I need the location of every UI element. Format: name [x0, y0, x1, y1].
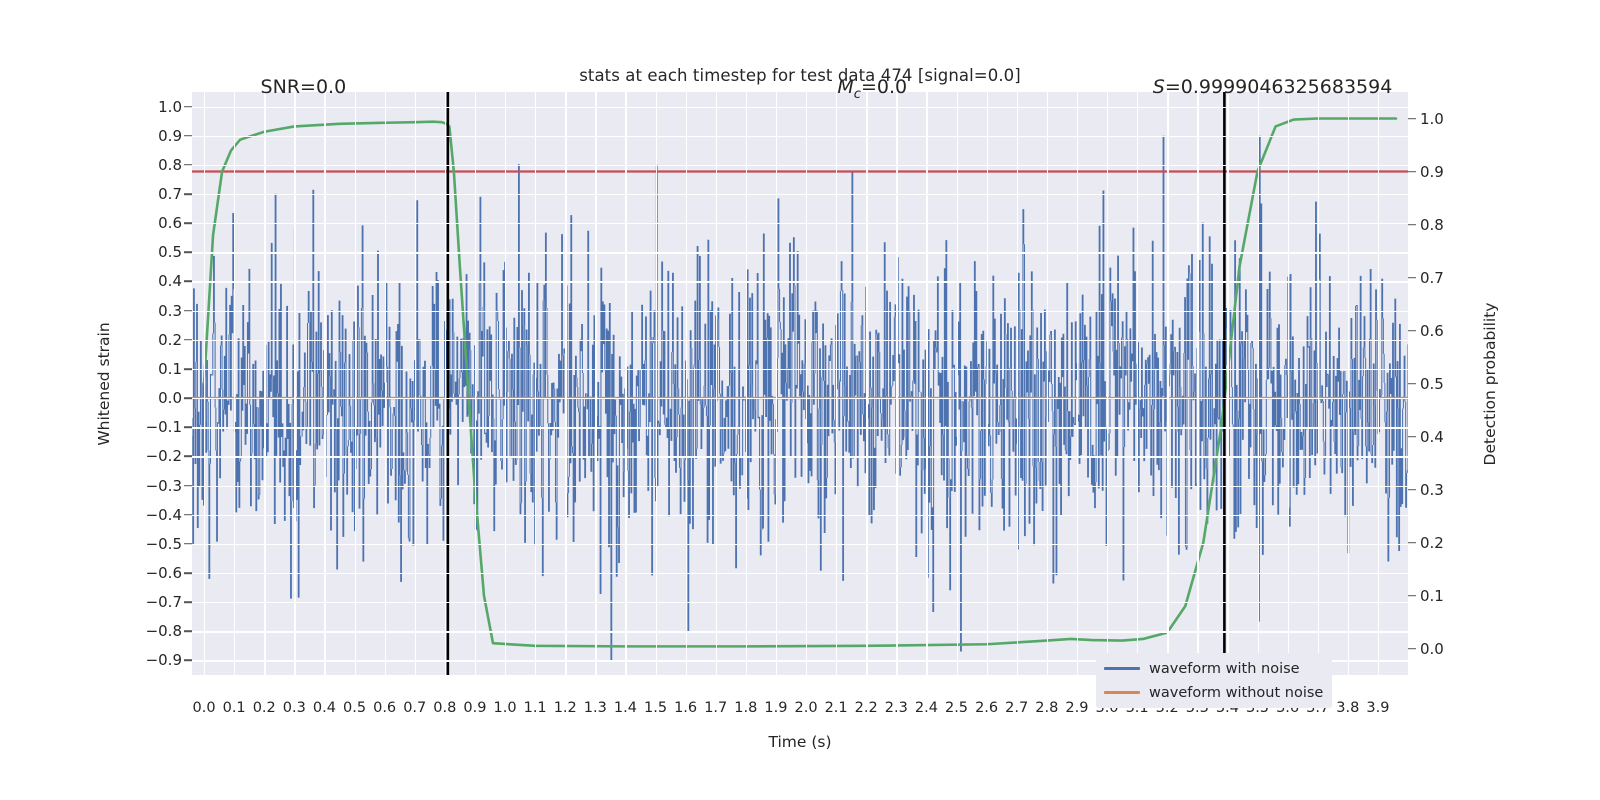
x-axis-tick-label: 1.6	[674, 700, 697, 716]
y-axis-left-tick-label: −0.4	[146, 506, 182, 524]
y-axis-left-tick-label: 0.5	[158, 243, 182, 261]
y-axis-left-tick-label: 0.9	[158, 127, 182, 145]
grid-line-horizontal	[192, 223, 1408, 224]
grid-line-vertical	[896, 92, 897, 675]
y-axis-right-tick-mark	[1408, 383, 1416, 385]
legend-item-label: waveform with noise	[1149, 661, 1300, 677]
annotation-chirp-mass-value: =0.0	[861, 76, 907, 98]
x-axis-tick-label: 1.9	[764, 700, 787, 716]
x-axis-tick-label: 2.7	[1005, 700, 1028, 716]
y-axis-right-tick-mark	[1408, 118, 1416, 120]
y-axis-left-label: Whitened strain	[95, 322, 113, 445]
grid-line-vertical	[1258, 92, 1259, 675]
y-axis-right-tick-mark	[1408, 436, 1416, 438]
y-axis-left-tick-label: 0.7	[158, 185, 182, 203]
x-axis-tick-label: 0.3	[283, 700, 306, 716]
x-axis-tick-label: 2.3	[885, 700, 908, 716]
legend[interactable]: waveform with noisewaveform without nois…	[1096, 653, 1332, 708]
grid-line-horizontal	[192, 544, 1408, 545]
x-axis-tick-label: 2.6	[975, 700, 998, 716]
grid-line-vertical	[415, 92, 416, 675]
grid-line-vertical	[866, 92, 867, 675]
y-axis-left-tick-label: −0.3	[146, 477, 182, 495]
grid-line-vertical	[385, 92, 386, 675]
y-axis-right-tick-mark	[1408, 330, 1416, 332]
x-axis-tick-label: 1.2	[554, 700, 577, 716]
x-axis-tick-label: 2.8	[1035, 700, 1058, 716]
y-axis-left-tick-label: 0.2	[158, 331, 182, 349]
y-axis-left-tick-mark	[184, 135, 192, 137]
y-axis-left-tick-mark	[184, 660, 192, 662]
x-axis-tick-label: 2.4	[915, 700, 938, 716]
grid-line-horizontal	[192, 252, 1408, 253]
grid-line-vertical	[565, 92, 566, 675]
grid-line-vertical	[324, 92, 325, 675]
y-axis-left-tick-label: −0.5	[146, 535, 182, 553]
y-axis-left-tick-mark	[184, 485, 192, 487]
data-series-layer	[192, 92, 1408, 675]
y-axis-right-tick-label: 0.1	[1420, 587, 1444, 605]
grid-line-vertical	[806, 92, 807, 675]
grid-line-vertical	[776, 92, 777, 675]
grid-line-vertical	[234, 92, 235, 675]
y-axis-right-tick-mark	[1408, 224, 1416, 226]
grid-line-vertical	[505, 92, 506, 675]
y-axis-left-tick-mark	[184, 310, 192, 312]
grid-line-horizontal	[192, 427, 1408, 428]
y-axis-left-tick-label: −0.9	[146, 651, 182, 669]
y-axis-left-tick-mark	[184, 543, 192, 545]
y-axis-left-tick-mark	[184, 601, 192, 603]
y-axis-right-tick-mark	[1408, 171, 1416, 173]
grid-line-vertical	[445, 92, 446, 675]
grid-line-horizontal	[192, 456, 1408, 457]
grid-line-horizontal	[192, 311, 1408, 312]
annotation-chirp-mass: Mc=0.0	[837, 76, 907, 102]
y-axis-left-tick-label: −0.8	[146, 622, 182, 640]
annotation-score-symbol: S	[1153, 76, 1165, 98]
grid-line-horizontal	[192, 281, 1408, 282]
grid-line-vertical	[535, 92, 536, 675]
x-axis-tick-label: 1.8	[734, 700, 757, 716]
y-axis-left-tick-mark	[184, 193, 192, 195]
y-axis-left-tick-mark	[184, 397, 192, 399]
y-axis-left-tick-mark	[184, 456, 192, 458]
grid-line-vertical	[1137, 92, 1138, 675]
y-axis-right-tick-mark	[1408, 277, 1416, 279]
legend-item-label: waveform without noise	[1149, 685, 1323, 701]
y-axis-left-tick-mark	[184, 339, 192, 341]
y-axis-right-tick-label: 1.0	[1420, 110, 1444, 128]
x-axis-tick-label: 1.7	[704, 700, 727, 716]
grid-line-vertical	[716, 92, 717, 675]
grid-line-vertical	[1167, 92, 1168, 675]
annotation-snr: SNR=0.0	[261, 76, 347, 98]
x-axis-tick-label: 0.2	[253, 700, 276, 716]
grid-line-vertical	[656, 92, 657, 675]
x-axis-tick-label: 1.5	[644, 700, 667, 716]
grid-line-vertical	[1227, 92, 1228, 675]
y-axis-left-tick-label: 0.8	[158, 156, 182, 174]
y-axis-left-tick-mark	[184, 572, 192, 574]
legend-item[interactable]: waveform with noise	[1104, 658, 1323, 679]
grid-line-vertical	[957, 92, 958, 675]
y-axis-right-tick-mark	[1408, 595, 1416, 597]
x-axis-label: Time (s)	[768, 733, 831, 751]
grid-line-vertical	[294, 92, 295, 675]
annotation-score: S=0.9999046325683594	[1153, 76, 1393, 98]
x-axis-tick-label: 0.5	[343, 700, 366, 716]
y-axis-left-tick-label: −0.6	[146, 564, 182, 582]
x-axis-tick-label: 0.0	[193, 700, 216, 716]
x-axis-tick-label: 2.9	[1065, 700, 1088, 716]
y-axis-left-tick-label: −0.7	[146, 593, 182, 611]
grid-line-horizontal	[192, 165, 1408, 166]
y-axis-left-tick-mark	[184, 106, 192, 108]
grid-line-vertical	[686, 92, 687, 675]
figure-canvas: stats at each timestep for test data 474…	[0, 0, 1600, 800]
x-axis-tick-label: 1.0	[493, 700, 516, 716]
grid-line-horizontal	[192, 398, 1408, 399]
grid-line-vertical	[204, 92, 205, 675]
legend-item[interactable]: waveform without noise	[1104, 682, 1323, 703]
y-axis-right-tick-label: 0.3	[1420, 481, 1444, 499]
grid-line-vertical	[625, 92, 626, 675]
y-axis-right-tick-label: 0.5	[1420, 375, 1444, 393]
x-axis-tick-label: 3.8	[1336, 700, 1359, 716]
y-axis-left-tick-label: −0.2	[146, 447, 182, 465]
y-axis-left-tick-mark	[184, 368, 192, 370]
grid-line-vertical	[1107, 92, 1108, 675]
grid-line-horizontal	[192, 340, 1408, 341]
x-axis-tick-label: 2.2	[855, 700, 878, 716]
grid-line-horizontal	[192, 369, 1408, 370]
grid-line-vertical	[926, 92, 927, 675]
plot-axes-area	[192, 92, 1408, 675]
x-axis-tick-label: 1.4	[614, 700, 637, 716]
y-axis-left-tick-label: 0.3	[158, 302, 182, 320]
y-axis-left-tick-mark	[184, 630, 192, 632]
grid-line-horizontal	[192, 631, 1408, 632]
y-axis-left-tick-label: 0.1	[158, 360, 182, 378]
annotation-chirp-mass-subscript: c	[854, 87, 861, 102]
grid-line-vertical	[1348, 92, 1349, 675]
x-axis-tick-label: 2.0	[794, 700, 817, 716]
y-axis-left-tick-label: 1.0	[158, 98, 182, 116]
annotation-score-value: =0.9999046325683594	[1165, 76, 1392, 98]
x-axis-tick-label: 0.9	[463, 700, 486, 716]
grid-line-vertical	[1197, 92, 1198, 675]
grid-line-vertical	[1288, 92, 1289, 675]
x-axis-tick-label: 2.1	[825, 700, 848, 716]
y-axis-right-tick-label: 0.8	[1420, 216, 1444, 234]
y-axis-right-tick-label: 0.9	[1420, 163, 1444, 181]
y-axis-left-tick-label: 0.0	[158, 389, 182, 407]
y-axis-right-tick-mark	[1408, 489, 1416, 491]
grid-line-vertical	[475, 92, 476, 675]
grid-line-vertical	[987, 92, 988, 675]
y-axis-left-tick-mark	[184, 281, 192, 283]
grid-line-vertical	[1047, 92, 1048, 675]
y-axis-right-tick-label: 0.0	[1420, 640, 1444, 658]
grid-line-horizontal	[192, 602, 1408, 603]
x-axis-tick-label: 0.1	[223, 700, 246, 716]
y-axis-left-tick-mark	[184, 514, 192, 516]
grid-line-vertical	[836, 92, 837, 675]
y-axis-right-tick-label: 0.4	[1420, 428, 1444, 446]
y-axis-left-tick-label: −0.1	[146, 418, 182, 436]
grid-line-horizontal	[192, 107, 1408, 108]
y-axis-right-tick-mark	[1408, 542, 1416, 544]
grid-line-horizontal	[192, 515, 1408, 516]
y-axis-left-tick-mark	[184, 164, 192, 166]
grid-line-horizontal	[192, 573, 1408, 574]
y-axis-right-tick-mark	[1408, 648, 1416, 650]
x-axis-tick-label: 0.4	[313, 700, 336, 716]
y-axis-right-tick-label: 0.7	[1420, 269, 1444, 287]
x-axis-tick-label: 0.7	[403, 700, 426, 716]
x-axis-tick-label: 1.1	[524, 700, 547, 716]
grid-line-horizontal	[192, 486, 1408, 487]
grid-line-vertical	[1318, 92, 1319, 675]
y-axis-left-tick-label: 0.6	[158, 214, 182, 232]
x-axis-tick-label: 3.9	[1366, 700, 1389, 716]
y-axis-right-tick-label: 0.2	[1420, 534, 1444, 552]
y-axis-left-tick-label: 0.4	[158, 272, 182, 290]
grid-line-vertical	[595, 92, 596, 675]
legend-color-swatch	[1104, 691, 1140, 694]
legend-color-swatch	[1104, 667, 1140, 670]
grid-line-vertical	[264, 92, 265, 675]
grid-line-vertical	[1017, 92, 1018, 675]
x-axis-tick-label: 1.3	[584, 700, 607, 716]
grid-line-horizontal	[192, 194, 1408, 195]
y-axis-left-tick-mark	[184, 252, 192, 254]
x-axis-tick-label: 2.5	[945, 700, 968, 716]
y-axis-right-label: Detection probability	[1481, 303, 1499, 466]
grid-line-vertical	[746, 92, 747, 675]
y-axis-right-tick-label: 0.6	[1420, 322, 1444, 340]
grid-line-vertical	[355, 92, 356, 675]
x-axis-tick-label: 0.8	[433, 700, 456, 716]
grid-line-vertical	[1378, 92, 1379, 675]
grid-line-vertical	[1077, 92, 1078, 675]
annotation-chirp-mass-symbol: M	[837, 76, 853, 98]
y-axis-left-tick-mark	[184, 426, 192, 428]
x-axis-tick-label: 0.6	[373, 700, 396, 716]
y-axis-left-tick-mark	[184, 222, 192, 224]
grid-line-horizontal	[192, 136, 1408, 137]
